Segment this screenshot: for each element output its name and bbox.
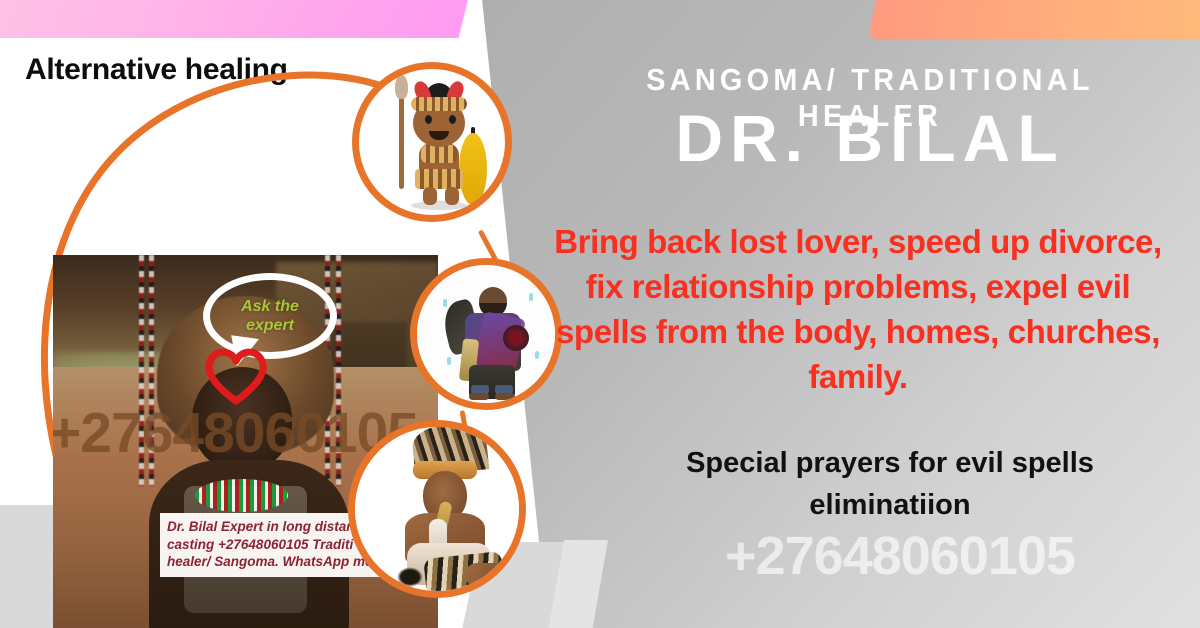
- circle-crouching-sangoma: [348, 420, 526, 598]
- figure-chest-pattern: [421, 145, 457, 163]
- circle-zulu-warrior-boy: [352, 62, 512, 222]
- figure-sandal: [495, 393, 515, 400]
- watermark-phone-number: +27648060105: [610, 525, 1190, 587]
- sparkle-icon: [529, 293, 533, 301]
- figure-medallion: [503, 325, 529, 351]
- poster-canvas: Alternative healing Ask theexpert +27648…: [0, 0, 1200, 628]
- alternative-healing-heading: Alternative healing: [25, 53, 288, 87]
- sparkle-icon: [447, 357, 451, 365]
- ask-the-expert-label: Ask theexpert: [241, 297, 299, 335]
- spear-icon: [399, 85, 404, 189]
- figure-skirt: [415, 169, 463, 189]
- sparkle-icon: [443, 299, 447, 307]
- figure-headband: [411, 97, 467, 111]
- gray-block-bottom-left: [0, 505, 54, 628]
- spear-head-icon: [395, 75, 408, 99]
- figure-fur-tuft: [397, 567, 423, 587]
- zulu-shield-icon: [459, 133, 487, 205]
- figure-sandal: [469, 393, 489, 400]
- figure-leg: [465, 563, 509, 587]
- pink-banner-shape: [0, 0, 470, 38]
- red-heart-icon: [201, 343, 271, 407]
- orange-banner-shape: [868, 0, 1200, 40]
- photo-figure-necklace: [195, 479, 287, 513]
- special-prayers-text: Special prayers for evil spells eliminat…: [610, 442, 1170, 526]
- services-description: Bring back lost lover, speed up divorce,…: [538, 219, 1178, 399]
- figure-leg: [423, 187, 437, 205]
- figure-eye: [449, 115, 456, 124]
- doctor-name-title: DR. BILAL: [556, 103, 1184, 173]
- figure-shadow: [411, 201, 467, 210]
- figure-leg: [445, 187, 459, 205]
- figure-eye: [425, 115, 432, 124]
